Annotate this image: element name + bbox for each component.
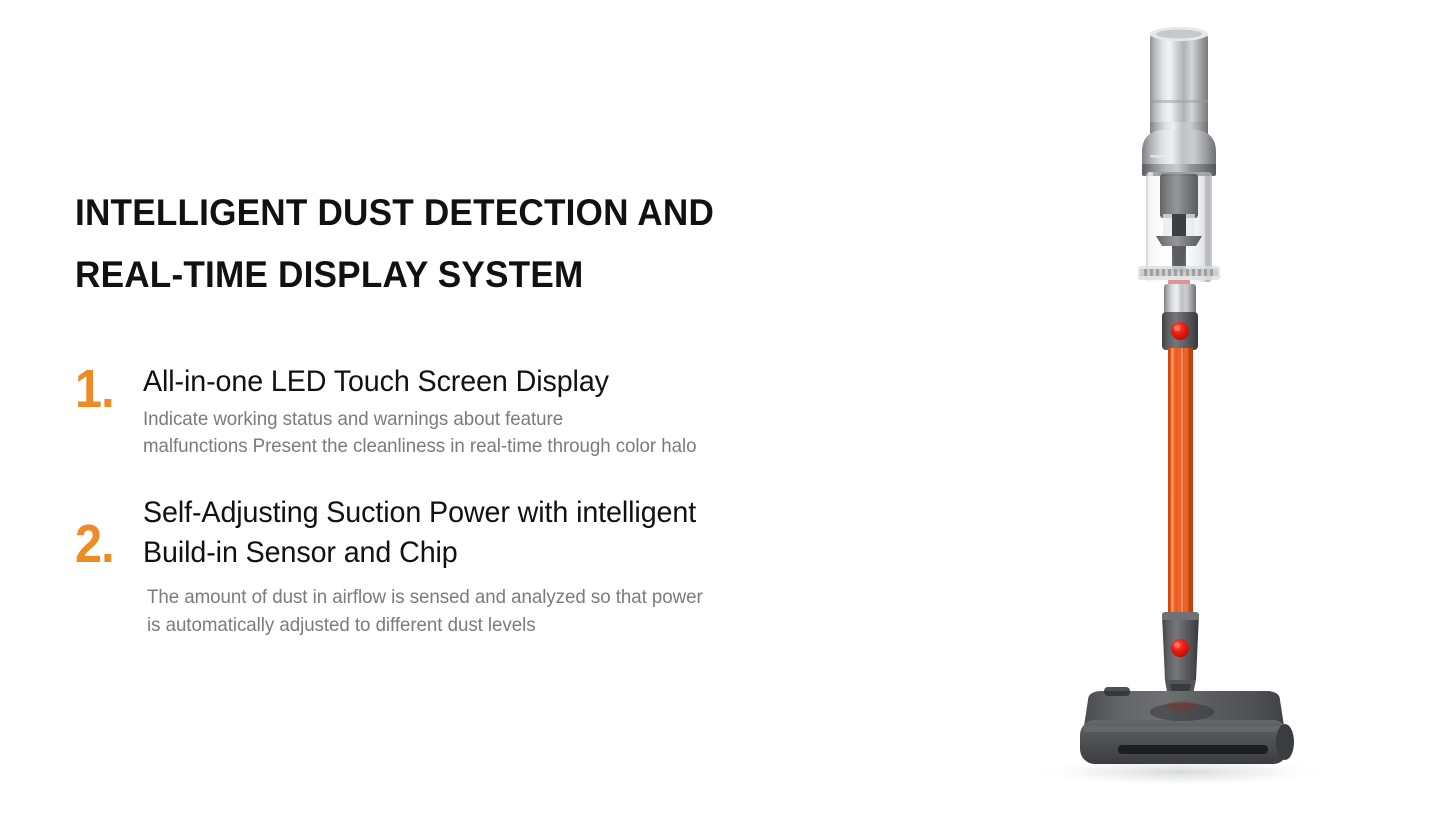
extension-wand <box>1168 348 1193 616</box>
page-title-line-1: INTELLIGENT DUST DETECTION AND <box>75 182 892 244</box>
brush-slot <box>1118 745 1268 754</box>
release-button-lower-icon[interactable] <box>1171 639 1189 657</box>
dust-bin <box>1138 172 1220 285</box>
list-item: 2. Self-Adjusting Suction Power with int… <box>75 493 975 640</box>
bin-base-ring <box>1138 266 1220 285</box>
list-item-description-line-1: Indicate working status and warnings abo… <box>143 406 942 434</box>
slide-root: INTELLIGENT DUST DETECTION AND REAL-TIME… <box>0 0 1445 813</box>
floor-head <box>1080 687 1294 764</box>
page-title: INTELLIGENT DUST DETECTION AND REAL-TIME… <box>75 182 892 306</box>
list-item-description-line-2: is automatically adjusted to different d… <box>147 612 942 640</box>
list-item-description: Indicate working status and warnings abo… <box>143 406 942 461</box>
head-wheel-right <box>1276 724 1294 760</box>
list-item-heading: All-in-one LED Touch Screen Display <box>143 362 938 402</box>
feature-list: 1. All-in-one LED Touch Screen Display I… <box>75 362 975 648</box>
cyclone-cap <box>1142 130 1216 176</box>
motor-housing <box>1150 27 1208 138</box>
product-image <box>1000 0 1445 813</box>
content-column: INTELLIGENT DUST DETECTION AND REAL-TIME… <box>75 0 975 813</box>
list-item-number: 2. <box>75 493 136 570</box>
list-item-heading: Self-Adjusting Suction Power with intell… <box>143 493 938 572</box>
wand-upper-collar <box>1162 284 1198 350</box>
release-button-upper-icon[interactable] <box>1171 322 1189 340</box>
list-item-description-line-2: malfunctions Present the cleanliness in … <box>143 433 942 461</box>
list-item-description: The amount of dust in airflow is sensed … <box>147 584 942 639</box>
page-title-line-2: REAL-TIME DISPLAY SYSTEM <box>75 244 892 306</box>
list-item-body: All-in-one LED Touch Screen Display Indi… <box>143 362 975 461</box>
list-item: 1. All-in-one LED Touch Screen Display I… <box>75 362 975 461</box>
list-item-heading-line-1: All-in-one LED Touch Screen Display <box>143 362 938 402</box>
list-item-heading-line-1: Self-Adjusting Suction Power with intell… <box>143 493 938 533</box>
head-accent-left <box>1104 687 1130 696</box>
list-item-description-line-1: The amount of dust in airflow is sensed … <box>147 584 942 612</box>
list-item-heading-line-2: Build-in Sensor and Chip <box>143 533 938 573</box>
list-item-body: Self-Adjusting Suction Power with intell… <box>143 493 975 640</box>
list-item-number: 1. <box>75 362 136 415</box>
vacuum-cleaner-illustration <box>1000 0 1445 813</box>
